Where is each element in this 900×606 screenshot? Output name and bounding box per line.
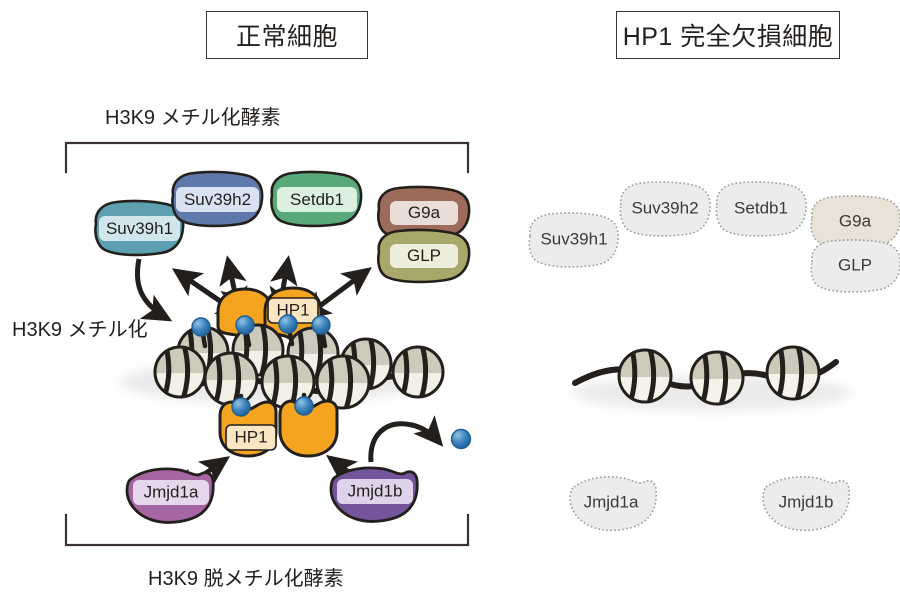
methyl-mark bbox=[279, 315, 297, 333]
ghost-blob-jmjd1b: Jmjd1b bbox=[763, 477, 849, 530]
arrow-suv39h1-curved bbox=[137, 259, 168, 319]
nucleosome-row-right bbox=[619, 346, 819, 405]
ghost-label-glp: GLP bbox=[838, 255, 872, 274]
methyl-mark bbox=[232, 398, 250, 416]
methyl-mark bbox=[295, 397, 313, 415]
ghost-label-jmjd1a: Jmjd1a bbox=[584, 492, 639, 511]
ghost-label-jmjd1b: Jmjd1b bbox=[779, 492, 834, 511]
ghost-label-suv39h2: Suv39h2 bbox=[631, 198, 698, 217]
ghost-blob-glp: GLP bbox=[811, 240, 900, 292]
blob-jmjd1b: Jmjd1b bbox=[331, 468, 417, 521]
blob-label-suv39h2: Suv39h2 bbox=[184, 190, 251, 209]
methyl-mark bbox=[236, 316, 254, 334]
ghost-blob-suv39h1: Suv39h1 bbox=[529, 213, 618, 267]
blob-suv39h2: Suv39h2 bbox=[172, 172, 262, 226]
figure-canvas: 正常細胞 HP1 完全欠損細胞 H3K9 メチル化酵素 H3K9 脱メチル化酵素… bbox=[0, 0, 900, 606]
blob-label-setdb1: Setdb1 bbox=[290, 190, 344, 209]
methyl-mark bbox=[192, 318, 210, 336]
arrow-methyl-removal bbox=[371, 424, 440, 462]
ghost-blob-jmjd1a: Jmjd1a bbox=[570, 477, 656, 530]
blob-setdb1: Setdb1 bbox=[271, 172, 361, 226]
blob-label-jmjd1a: Jmjd1a bbox=[144, 482, 199, 501]
methyl-mark bbox=[312, 316, 330, 334]
ghost-label-suv39h1: Suv39h1 bbox=[540, 229, 607, 248]
diagram-svg: Suv39h1 Suv39h2 Setdb1 G9a GLP bbox=[0, 0, 900, 606]
bracket-methyltransferase bbox=[66, 143, 468, 172]
hp1-label-lower: HP1 bbox=[234, 427, 267, 446]
methyl-mark-released bbox=[452, 430, 471, 449]
ghost-blob-setdb1: Setdb1 bbox=[716, 182, 806, 236]
blob-label-suv39h1: Suv39h1 bbox=[106, 219, 173, 238]
blob-label-glp: GLP bbox=[407, 246, 441, 265]
ghost-blob-suv39h2: Suv39h2 bbox=[620, 182, 710, 236]
blob-glp: GLP bbox=[378, 230, 469, 282]
ghost-label-setdb1: Setdb1 bbox=[734, 198, 788, 217]
blob-label-g9a: G9a bbox=[408, 203, 441, 222]
blob-jmjd1a: Jmjd1a bbox=[127, 469, 213, 522]
blob-label-jmjd1b: Jmjd1b bbox=[348, 481, 403, 500]
bracket-demethylase bbox=[66, 515, 468, 545]
ghost-label-g9a: G9a bbox=[839, 211, 872, 230]
blob-suv39h1: Suv39h1 bbox=[95, 201, 183, 255]
